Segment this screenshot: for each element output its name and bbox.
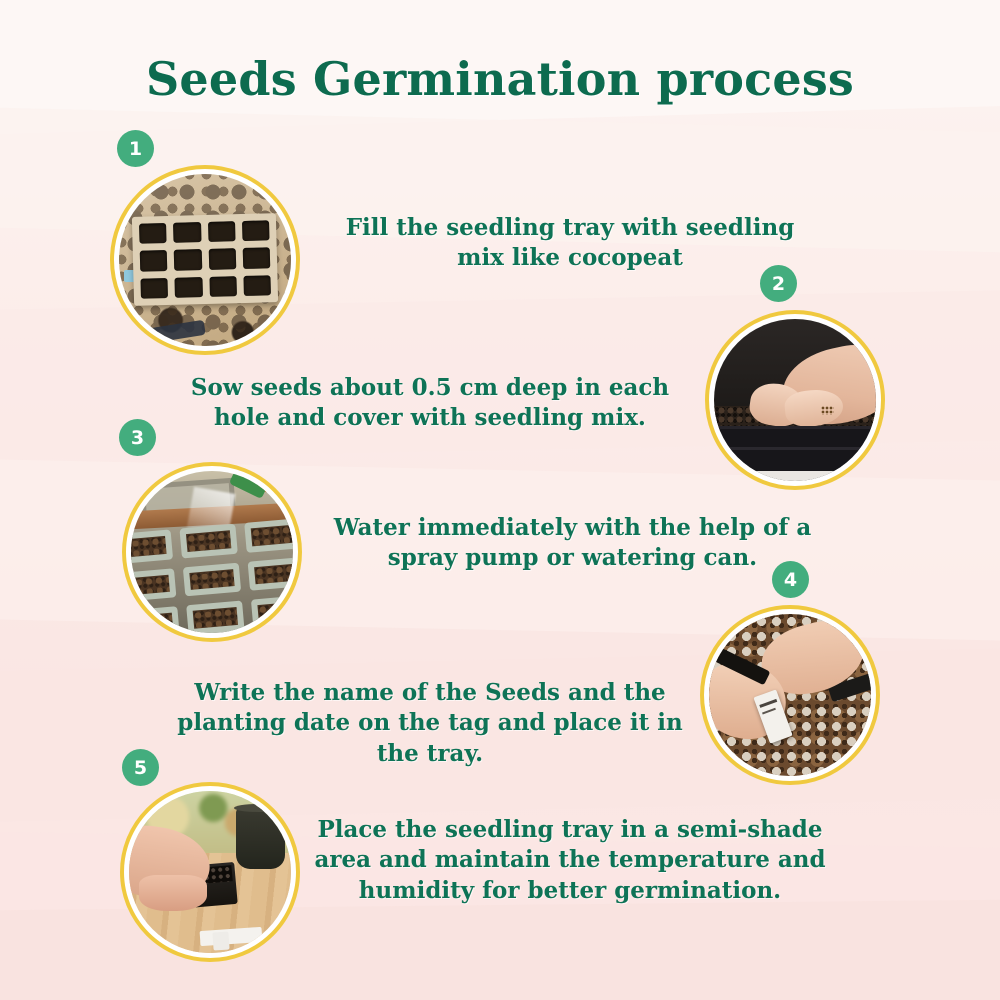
step-badge-1: 1 — [117, 130, 154, 167]
step-photo-3 — [122, 462, 302, 642]
infographic-canvas: Seeds Germination process 1 Fill the see… — [0, 0, 1000, 1000]
step-badge-4: 4 — [772, 561, 809, 598]
placing-seedling-pot-on-table-photo — [129, 791, 291, 953]
step-caption-4: Write the name of the Seeds and the plan… — [165, 678, 695, 769]
step-badge-3: 3 — [119, 419, 156, 456]
watering-seedling-tray-with-spray-photo — [131, 471, 293, 633]
step-caption-2: Sow seeds about 0.5 cm deep in each hole… — [185, 373, 675, 434]
step-caption-5: Place the seedling tray in a semi-shade … — [310, 815, 830, 906]
step-photo-4 — [700, 605, 880, 785]
step-photo-1 — [110, 165, 300, 355]
hands-sowing-seeds-into-tray-photo — [714, 319, 876, 481]
step-badge-2: 2 — [760, 265, 797, 302]
step-photo-5 — [120, 782, 300, 962]
step-caption-1: Fill the seedling tray with seedling mix… — [320, 213, 820, 274]
step-photo-2 — [705, 310, 885, 490]
page-title: Seeds Germination process — [0, 52, 1000, 106]
step-caption-3: Water immediately with the help of a spr… — [305, 513, 840, 574]
seedling-tray-filled-with-cocopeat-photo — [119, 174, 291, 346]
writing-plant-tag-with-marker-photo — [709, 614, 871, 776]
step-badge-5: 5 — [122, 749, 159, 786]
